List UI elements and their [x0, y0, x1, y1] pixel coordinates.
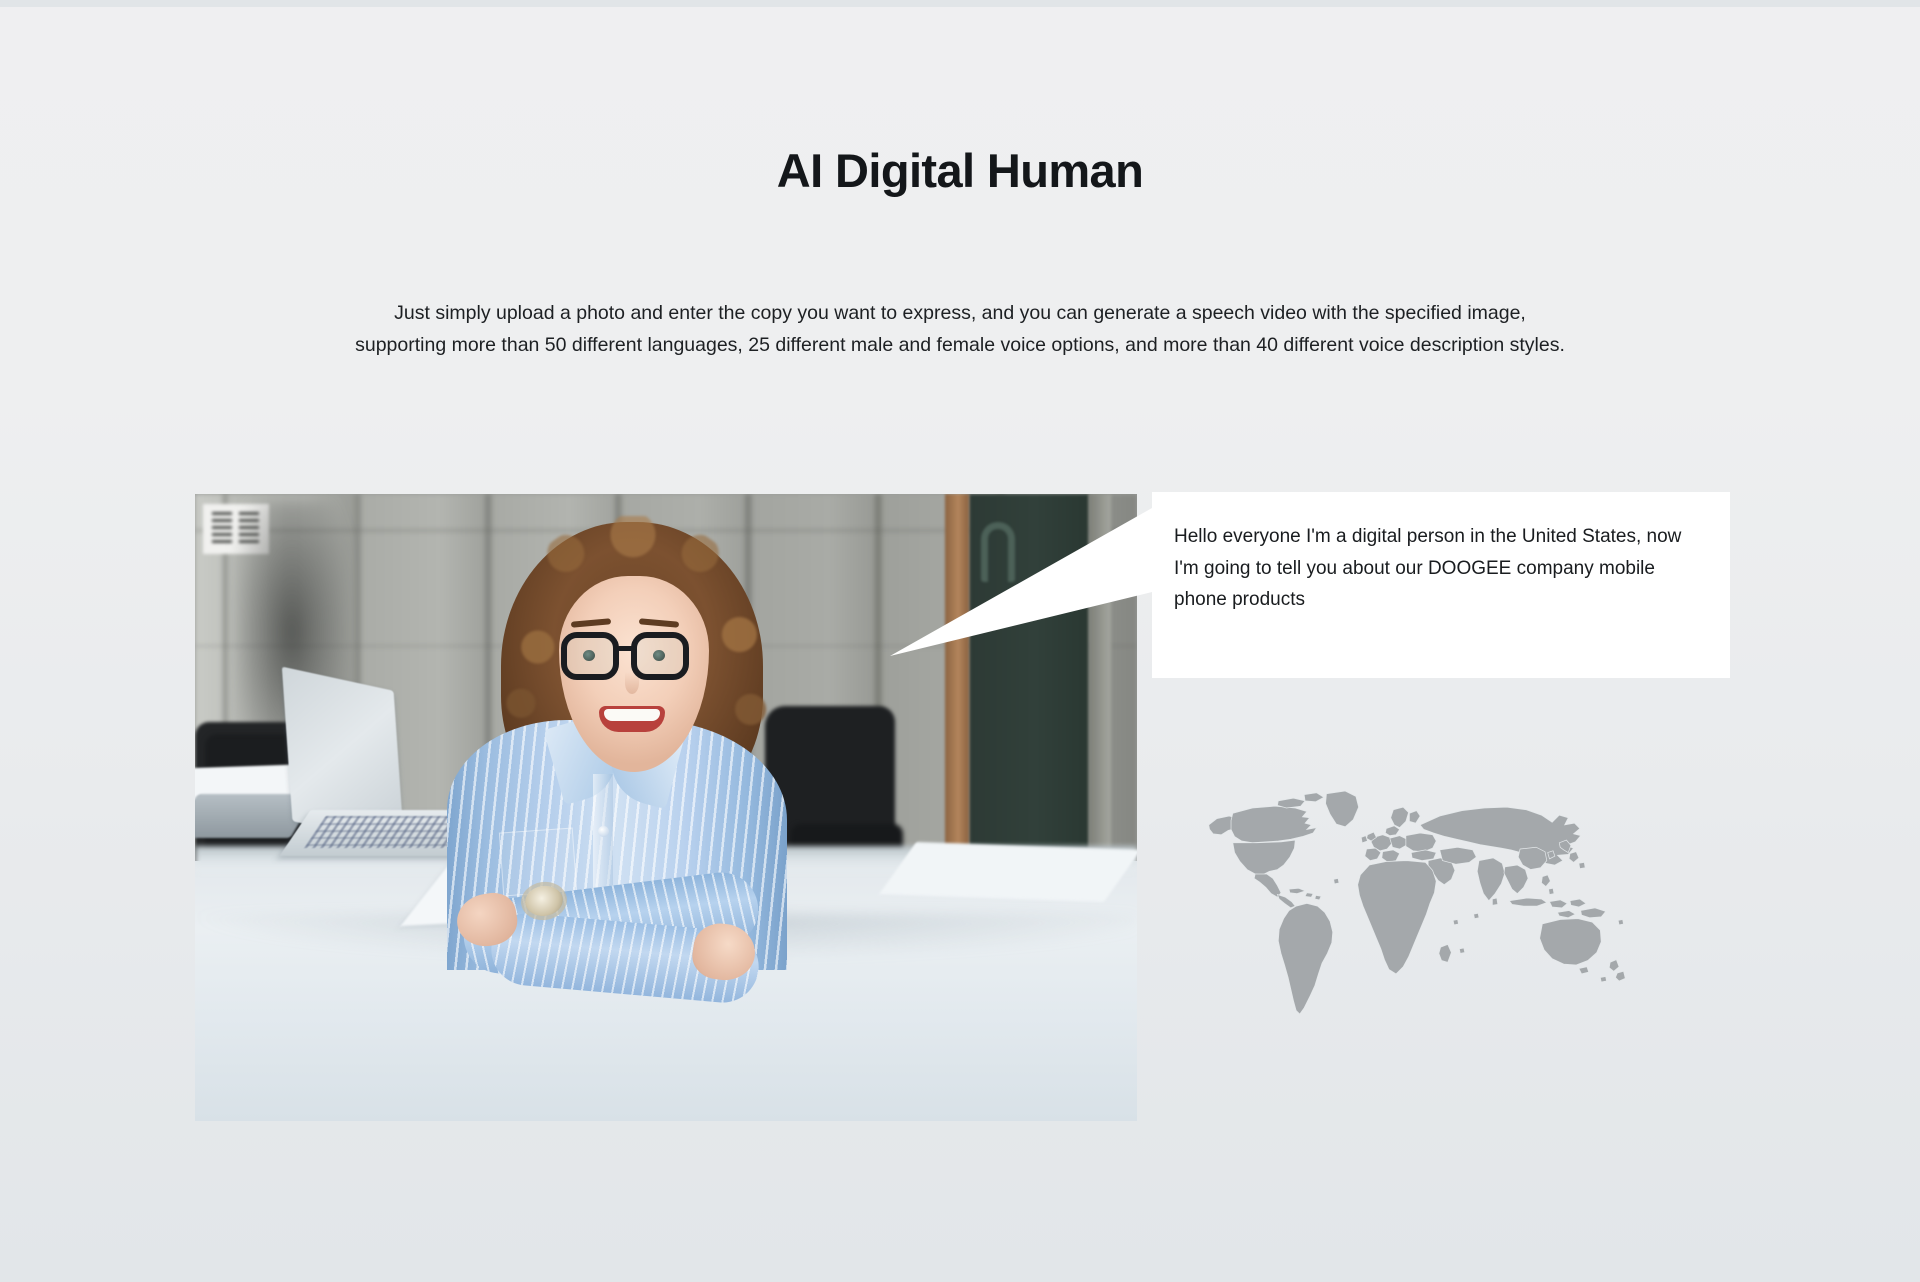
- hair-curls: [493, 516, 773, 828]
- world-map: [1190, 782, 1636, 1032]
- world-map-svg: [1190, 782, 1636, 1032]
- speech-bubble-text: Hello everyone I'm a digital person in t…: [1174, 521, 1698, 616]
- speech-bubble-tail: [890, 508, 1160, 668]
- paper-sheet-right: [879, 842, 1137, 902]
- speech-bubble: Hello everyone I'm a digital person in t…: [1152, 492, 1730, 678]
- page-title: AI Digital Human: [0, 143, 1920, 199]
- page-root: AI Digital Human Just simply upload a ph…: [0, 0, 1920, 1282]
- top-band-divider: [0, 0, 1920, 7]
- hero-description: Just simply upload a photo and enter the…: [350, 297, 1570, 361]
- world-map-landmasses: [1209, 791, 1626, 1014]
